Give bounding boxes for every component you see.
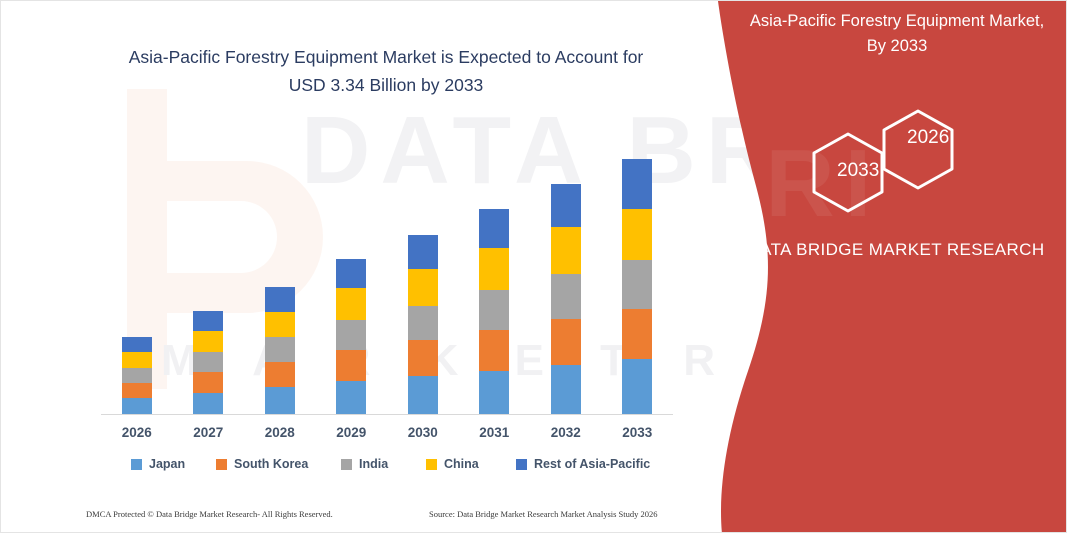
bar-segment-south-korea[interactable] [408,340,438,376]
bar-segment-rest-of-asia-pacific[interactable] [408,235,438,269]
stacked-bar[interactable] [408,235,438,414]
stacked-bar[interactable] [336,259,366,414]
bar-segment-japan[interactable] [479,371,509,414]
x-axis-line [101,414,673,415]
x-axis-label-2026: 2026 [102,425,172,440]
bar-group-2027[interactable] [173,141,243,414]
bar-segment-south-korea[interactable] [336,350,366,381]
bar-segment-rest-of-asia-pacific[interactable] [479,209,509,248]
legend-label: India [359,457,388,471]
bar-group-2030[interactable] [388,141,458,414]
stacked-bar[interactable] [479,209,509,414]
footer-source: Source: Data Bridge Market Research Mark… [429,509,658,519]
bar-segment-india[interactable] [336,320,366,350]
legend-label: Rest of Asia-Pacific [534,457,650,471]
legend-item-rest-of-asia-pacific[interactable]: Rest of Asia-Pacific [516,457,650,471]
legend-swatch-icon [516,459,527,470]
bar-segment-india[interactable] [122,368,152,383]
x-axis-label-2033: 2033 [602,425,672,440]
bar-segment-india[interactable] [551,274,581,319]
bar-segment-china[interactable] [622,209,652,261]
bar-segment-rest-of-asia-pacific[interactable] [622,159,652,208]
bar-segment-south-korea[interactable] [622,309,652,360]
hexagon-group: 2033 2026 [806,101,1036,221]
bar-segment-china[interactable] [122,352,152,368]
bar-segment-japan[interactable] [408,376,438,414]
bar-segment-south-korea[interactable] [193,372,223,392]
stacked-bar[interactable] [265,287,295,414]
x-axis-label-2032: 2032 [531,425,601,440]
bar-segment-china[interactable] [551,227,581,274]
bar-segment-japan[interactable] [265,387,295,414]
bar-segment-japan[interactable] [336,381,366,414]
footer: DMCA Protected © Data Bridge Market Rese… [1,509,701,525]
bar-segment-rest-of-asia-pacific[interactable] [122,337,152,352]
bar-segment-rest-of-asia-pacific[interactable] [265,287,295,311]
brand-panel-title: Asia-Pacific Forestry Equipment Market, … [744,9,1050,59]
x-axis-label-2027: 2027 [173,425,243,440]
x-axis-labels: 20262027202820292030203120322033 [101,425,673,445]
stacked-bar[interactable] [622,159,652,414]
bar-group-2032[interactable] [531,141,601,414]
legend-item-japan[interactable]: Japan [131,457,185,471]
legend-label: China [444,457,479,471]
bar-segment-rest-of-asia-pacific[interactable] [193,311,223,331]
chart-plot-area [101,141,673,415]
legend-item-south-korea[interactable]: South Korea [216,457,308,471]
infographic-root: DATA BRIDGE M A R K E T R E S E A R C H … [0,0,1067,533]
bar-group-2026[interactable] [102,141,172,414]
bar-segment-india[interactable] [193,352,223,372]
bar-segment-japan[interactable] [122,398,152,414]
bar-segment-india[interactable] [479,290,509,330]
bar-group-2033[interactable] [602,141,672,414]
x-axis-label-2028: 2028 [245,425,315,440]
legend-label: Japan [149,457,185,471]
chart-title: Asia-Pacific Forestry Equipment Market i… [121,43,651,99]
bar-segment-rest-of-asia-pacific[interactable] [336,259,366,289]
legend-swatch-icon [426,459,437,470]
hexagon-2026-icon [884,111,952,188]
legend-swatch-icon [131,459,142,470]
bar-segment-south-korea[interactable] [265,362,295,387]
bar-segment-south-korea[interactable] [122,383,152,398]
stacked-bar[interactable] [551,184,581,415]
footer-copyright: DMCA Protected © Data Bridge Market Rese… [86,509,333,519]
bar-segment-china[interactable] [193,331,223,352]
x-axis-label-2029: 2029 [316,425,386,440]
legend-item-india[interactable]: India [341,457,388,471]
bar-segment-south-korea[interactable] [551,319,581,365]
stacked-bar[interactable] [193,311,223,414]
legend-label: South Korea [234,457,308,471]
bar-segment-india[interactable] [265,337,295,362]
x-axis-label-2031: 2031 [459,425,529,440]
bar-segment-japan[interactable] [193,393,223,414]
bar-group-2031[interactable] [459,141,529,414]
x-axis-label-2030: 2030 [388,425,458,440]
bar-group-2029[interactable] [316,141,386,414]
stacked-bar[interactable] [122,337,152,414]
bar-group-2028[interactable] [245,141,315,414]
brand-panel-shape [696,1,1066,533]
bar-segment-india[interactable] [408,306,438,341]
brand-name: DATA BRIDGE MARKET RESEARCH [746,236,1046,263]
legend-swatch-icon [341,459,352,470]
bar-segment-japan[interactable] [551,365,581,414]
bar-segment-rest-of-asia-pacific[interactable] [551,184,581,228]
legend-swatch-icon [216,459,227,470]
bar-segment-india[interactable] [622,260,652,309]
bar-segment-south-korea[interactable] [479,330,509,371]
bar-segment-china[interactable] [336,288,366,320]
hexagon-2026-label: 2026 [907,127,949,149]
bar-segment-china[interactable] [408,269,438,305]
bar-segment-japan[interactable] [622,359,652,414]
legend-item-china[interactable]: China [426,457,479,471]
hexagon-2033-label: 2033 [837,160,879,182]
bar-segment-china[interactable] [479,248,509,290]
chart-legend: JapanSouth KoreaIndiaChinaRest of Asia-P… [111,457,671,477]
bar-segment-china[interactable] [265,312,295,338]
brand-panel: BRI Asia-Pacific Forestry Equipment Mark… [696,1,1066,533]
